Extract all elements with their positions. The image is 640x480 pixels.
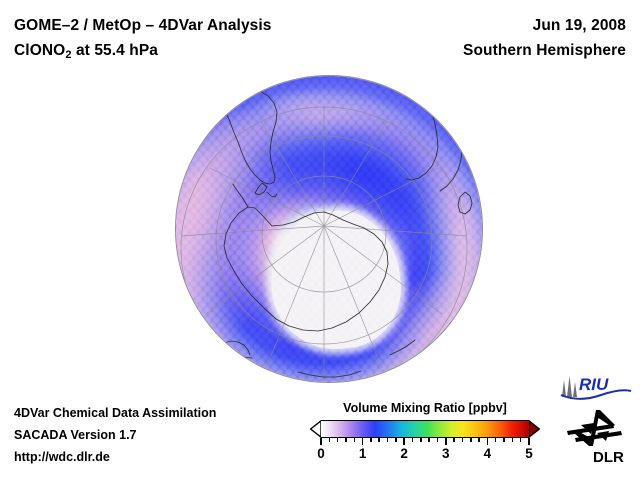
colorbar-minor-tick xyxy=(453,438,455,442)
colorbar-max-arrow-icon xyxy=(529,420,540,438)
colorbar-tick-label: 4 xyxy=(484,446,492,461)
dlr-wordmark: DLR xyxy=(593,449,624,466)
colorbar-title: Volume Mixing Ratio [ppbv] xyxy=(310,401,540,415)
colorbar-minor-tick xyxy=(428,438,430,442)
riu-towers-icon xyxy=(562,376,577,397)
colorbar-tick-label: 1 xyxy=(359,446,367,461)
colorbar-tick-labels: 012345 xyxy=(321,446,529,464)
colorbar-minor-tick xyxy=(437,438,439,442)
colorbar-major-tick xyxy=(320,438,322,445)
colorbar-major-tick xyxy=(403,438,405,445)
dlr-logo: DLR xyxy=(563,408,635,466)
colorbar-major-tick xyxy=(445,438,447,445)
species-name: ClONO xyxy=(14,42,65,59)
colorbar-min-arrow-icon xyxy=(310,420,321,438)
colorbar-tick-label: 5 xyxy=(525,446,533,461)
map-panel xyxy=(0,60,640,400)
colorbar-minor-tick xyxy=(370,438,372,442)
colorbar-minor-tick xyxy=(345,438,347,442)
pressure-level: at 55.4 hPa xyxy=(72,42,159,59)
colorbar-minor-tick xyxy=(420,438,422,442)
riu-logo: RIU xyxy=(559,371,633,401)
colorbar-minor-tick xyxy=(520,438,522,442)
dlr-propeller-icon xyxy=(567,410,622,446)
footer-version-label: SACADA Version 1.7 xyxy=(14,424,216,446)
colorbar-minor-tick xyxy=(503,438,505,442)
colorbar-minor-tick xyxy=(478,438,480,442)
colorbar-major-tick xyxy=(528,438,530,445)
colorbar-minor-tick xyxy=(470,438,472,442)
colorbar-minor-tick xyxy=(495,438,497,442)
riu-wordmark: RIU xyxy=(579,375,609,394)
footer-url-link[interactable]: http://wdc.dlr.de xyxy=(14,446,216,468)
colorbar-major-tick xyxy=(362,438,364,445)
polar-globe-map xyxy=(176,76,482,382)
colorbar-tick-label: 3 xyxy=(442,446,450,461)
colorbar-major-tick xyxy=(487,438,489,445)
colorbar-minor-tick xyxy=(378,438,380,442)
colorbar-ticks xyxy=(321,438,529,445)
colorbar-minor-tick xyxy=(387,438,389,442)
colorbar-tick-label: 0 xyxy=(317,446,325,461)
colorbar-tick-label: 2 xyxy=(400,446,408,461)
colorbar-minor-tick xyxy=(512,438,514,442)
date-label: Jun 19, 2008 xyxy=(346,13,626,38)
colorbar-gradient xyxy=(321,420,529,438)
coastline-outlines xyxy=(176,76,482,382)
colorbar-minor-tick xyxy=(329,438,331,442)
header-right-block: Jun 19, 2008 Southern Hemisphere xyxy=(346,13,626,63)
colorbar-minor-tick xyxy=(354,438,356,442)
colorbar-minor-tick xyxy=(462,438,464,442)
colorbar-minor-tick xyxy=(412,438,414,442)
colorbar-minor-tick xyxy=(337,438,339,442)
colorbar: Volume Mixing Ratio [ppbv] 012345 xyxy=(310,401,540,464)
footer-assimilation-label: 4DVar Chemical Data Assimilation xyxy=(14,402,216,424)
footer-left-block: 4DVar Chemical Data Assimilation SACADA … xyxy=(14,402,216,468)
colorbar-minor-tick xyxy=(395,438,397,442)
colorbar-strip xyxy=(310,420,540,438)
